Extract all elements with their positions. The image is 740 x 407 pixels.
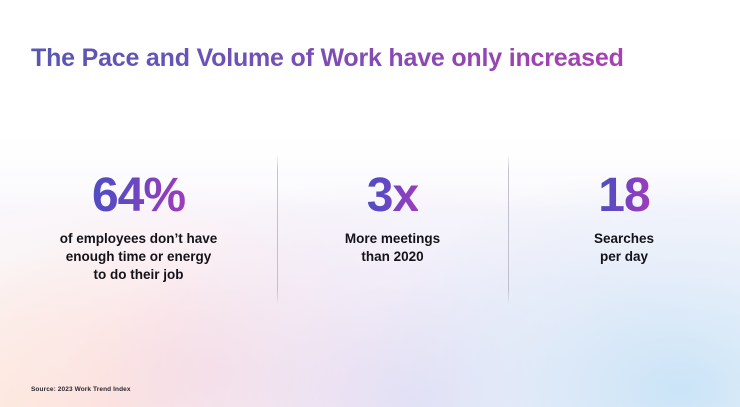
stat-caption-searches: Searches per day xyxy=(594,230,654,266)
stat-number-18: 18 xyxy=(598,172,649,220)
statistics-row: 64% of employees don’t have enough time … xyxy=(0,150,740,310)
stat-block-meetings: 3x More meetings than 2020 xyxy=(277,150,508,266)
stat-number-64-percent: 64% xyxy=(92,172,185,220)
stat-caption-employees: of employees don’t have enough time or e… xyxy=(60,230,218,283)
stat-block-searches: 18 Searches per day xyxy=(508,150,740,266)
slide-canvas: The Pace and Volume of Work have only in… xyxy=(0,0,740,407)
stat-block-employees: 64% of employees don’t have enough time … xyxy=(0,150,277,283)
stat-number-3x: 3x xyxy=(367,172,418,220)
slide-title: The Pace and Volume of Work have only in… xyxy=(31,43,624,73)
stat-divider-left xyxy=(277,155,278,305)
stat-divider-right xyxy=(508,155,509,305)
stat-caption-meetings: More meetings than 2020 xyxy=(345,230,440,266)
source-citation: Source: 2023 Work Trend Index xyxy=(31,386,131,393)
